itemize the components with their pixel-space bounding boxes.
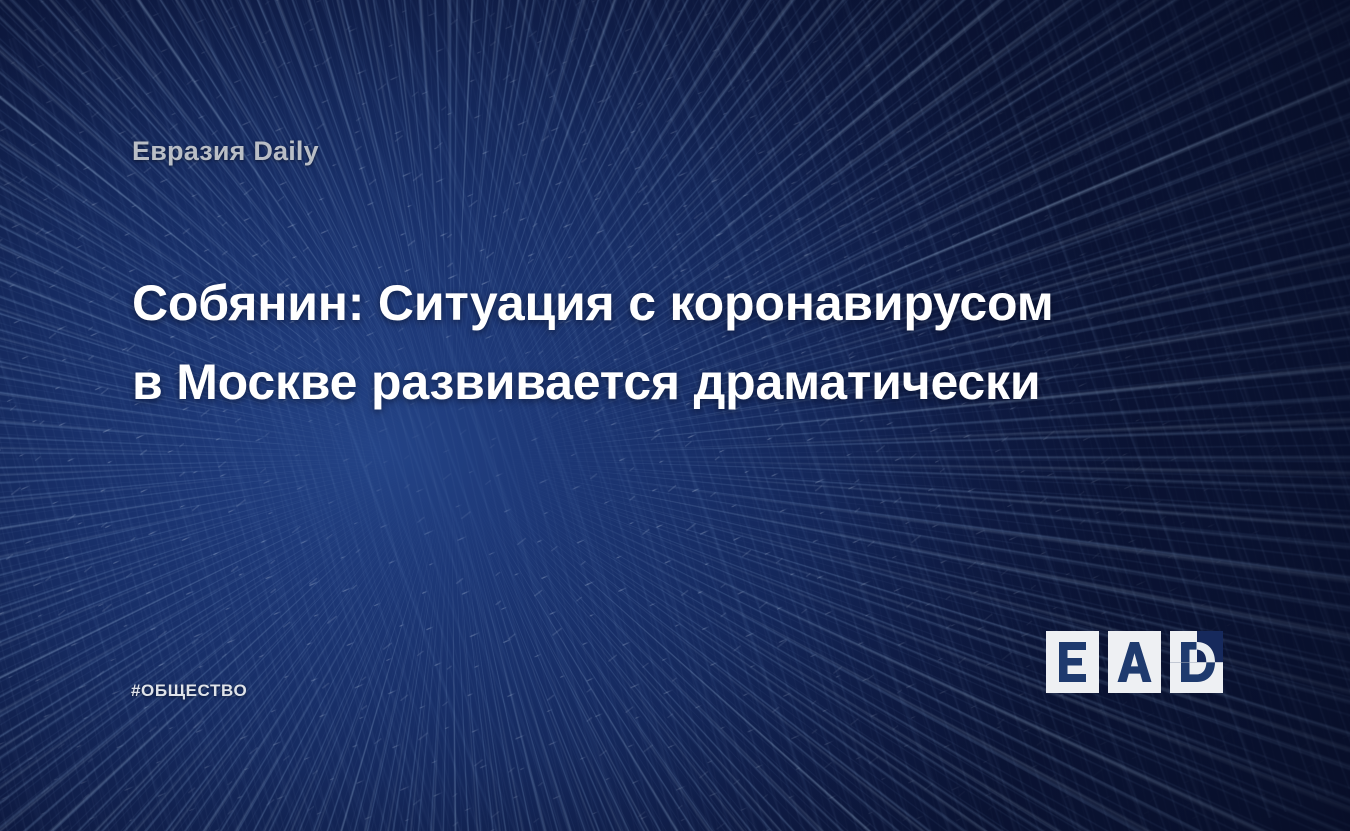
- topic-tag[interactable]: #ОБЩЕСТВО: [131, 681, 247, 701]
- brand-name: Евразия Daily: [132, 136, 319, 167]
- ead-logo[interactable]: [1046, 631, 1224, 693]
- share-card: Евразия Daily Собянин: Ситуация с корона…: [0, 0, 1350, 831]
- headline-line-2: в Москве развивается драматически: [132, 343, 1162, 422]
- headline-line-1: Собянин: Ситуация с коронавирусом: [132, 264, 1162, 343]
- logo-tile-d: [1170, 631, 1223, 693]
- logo-tile-seam: [1170, 662, 1223, 663]
- page-title: Собянин: Ситуация с коронавирусом в Моск…: [132, 264, 1162, 422]
- logo-tile-e: [1046, 631, 1099, 693]
- logo-tile-a: [1108, 631, 1161, 693]
